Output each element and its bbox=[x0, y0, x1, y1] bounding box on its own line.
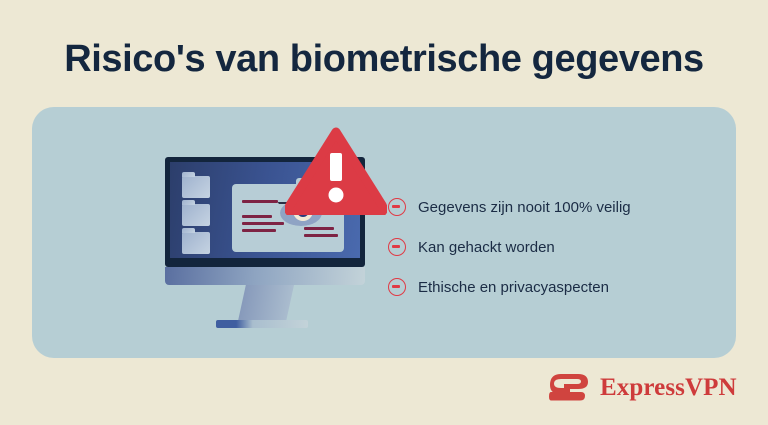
expressvpn-logo: ExpressVPN bbox=[548, 368, 737, 408]
list-item-label: Gegevens zijn nooit 100% veilig bbox=[418, 199, 631, 216]
infographic-root: Risico's van biometrische gegevens bbox=[0, 0, 768, 425]
risk-bullet-list: Gegevens zijn nooit 100% veilig Kan geha… bbox=[388, 187, 708, 307]
document-text-line bbox=[304, 234, 338, 237]
expressvpn-wordmark: ExpressVPN bbox=[600, 374, 737, 402]
list-item: Kan gehackt worden bbox=[388, 227, 708, 267]
folder-icon bbox=[182, 176, 210, 198]
list-item-label: Ethische en privacyaspecten bbox=[418, 279, 609, 296]
warning-triangle-icon bbox=[285, 127, 387, 215]
list-item: Gegevens zijn nooit 100% veilig bbox=[388, 187, 708, 227]
document-text-line bbox=[242, 229, 276, 232]
folder-icon bbox=[182, 232, 210, 254]
document-text-line bbox=[242, 200, 278, 203]
document-text-line bbox=[304, 227, 334, 230]
folder-icon bbox=[182, 204, 210, 226]
document-text-line bbox=[242, 215, 272, 218]
circle-minus-icon bbox=[388, 278, 406, 296]
monitor-stand-neck bbox=[238, 285, 294, 321]
monitor-bezel bbox=[165, 267, 365, 285]
expressvpn-e-mark-icon bbox=[548, 372, 590, 404]
document-text-line bbox=[242, 222, 284, 225]
content-card: Gegevens zijn nooit 100% veilig Kan geha… bbox=[32, 107, 736, 358]
list-item: Ethische en privacyaspecten bbox=[388, 267, 708, 307]
circle-minus-icon bbox=[388, 198, 406, 216]
illustration-monitor-warning bbox=[130, 127, 400, 342]
circle-minus-icon bbox=[388, 238, 406, 256]
page-title: Risico's van biometrische gegevens bbox=[0, 38, 768, 81]
list-item-label: Kan gehackt worden bbox=[418, 239, 555, 256]
monitor-stand-base bbox=[216, 320, 308, 328]
